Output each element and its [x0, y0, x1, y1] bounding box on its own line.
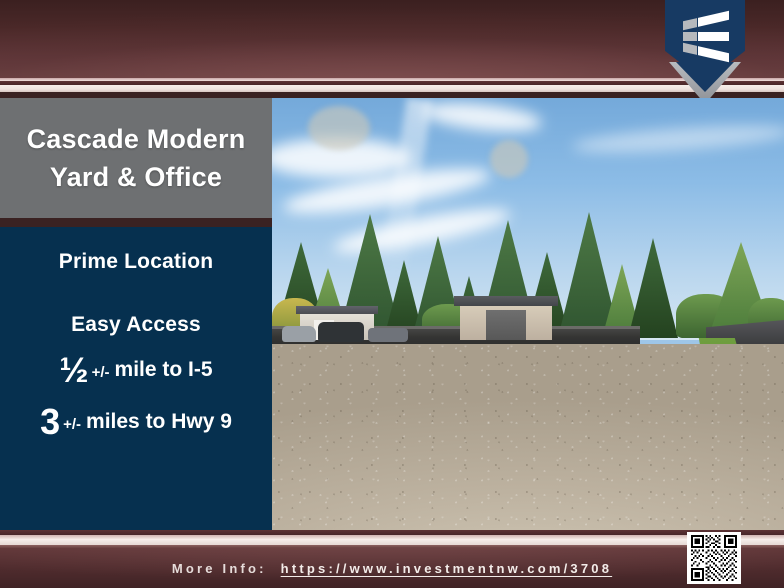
lens-flare	[308, 106, 370, 150]
investmentnw-shield-logo-icon	[665, 0, 745, 104]
roll-up-door	[486, 310, 526, 340]
parked-vehicle	[368, 328, 408, 342]
title-box: Cascade Modern Yard & Office	[0, 98, 272, 218]
info-panel: Prime Location Easy Access ½+/-mile to I…	[0, 227, 272, 530]
info-heading-easy-access: Easy Access	[0, 313, 272, 337]
qr-code-icon[interactable]	[687, 532, 741, 584]
property-url-link[interactable]: https://www.investmentnw.com/3708	[281, 561, 612, 576]
distance-number: 3	[40, 401, 60, 442]
page-title-line-2: Yard & Office	[50, 158, 222, 196]
distance-text: miles to Hwy 9	[84, 410, 232, 433]
parked-vehicle	[318, 322, 364, 342]
gravel-texture	[272, 344, 784, 530]
page-title-line-1: Cascade Modern	[27, 120, 246, 158]
property-photo	[272, 98, 784, 530]
distance-qualifier: +/-	[60, 416, 84, 433]
distance-row-i5: ½+/-mile to I-5	[0, 351, 272, 391]
mark-bar-bottom	[683, 43, 729, 63]
building-mark-icon	[681, 16, 729, 60]
office-roof	[454, 296, 558, 306]
info-heading-prime-location: Prime Location	[0, 250, 272, 274]
mark-bar-middle	[683, 32, 729, 41]
more-info-label: More Info:	[172, 561, 267, 576]
secondary-roof	[296, 306, 378, 314]
parked-vehicle	[282, 326, 316, 342]
distance-number: ½	[59, 351, 88, 390]
lens-flare	[490, 140, 528, 178]
distance-row-hwy9: 3+/-miles to Hwy 9	[0, 401, 272, 443]
marketing-slide: Cascade Modern Yard & Office Prime Locat…	[0, 0, 784, 588]
footer-band: More Info: https://www.investmentnw.com/…	[0, 548, 784, 588]
distance-text: mile to I-5	[113, 358, 213, 381]
distance-qualifier: +/-	[89, 364, 113, 381]
